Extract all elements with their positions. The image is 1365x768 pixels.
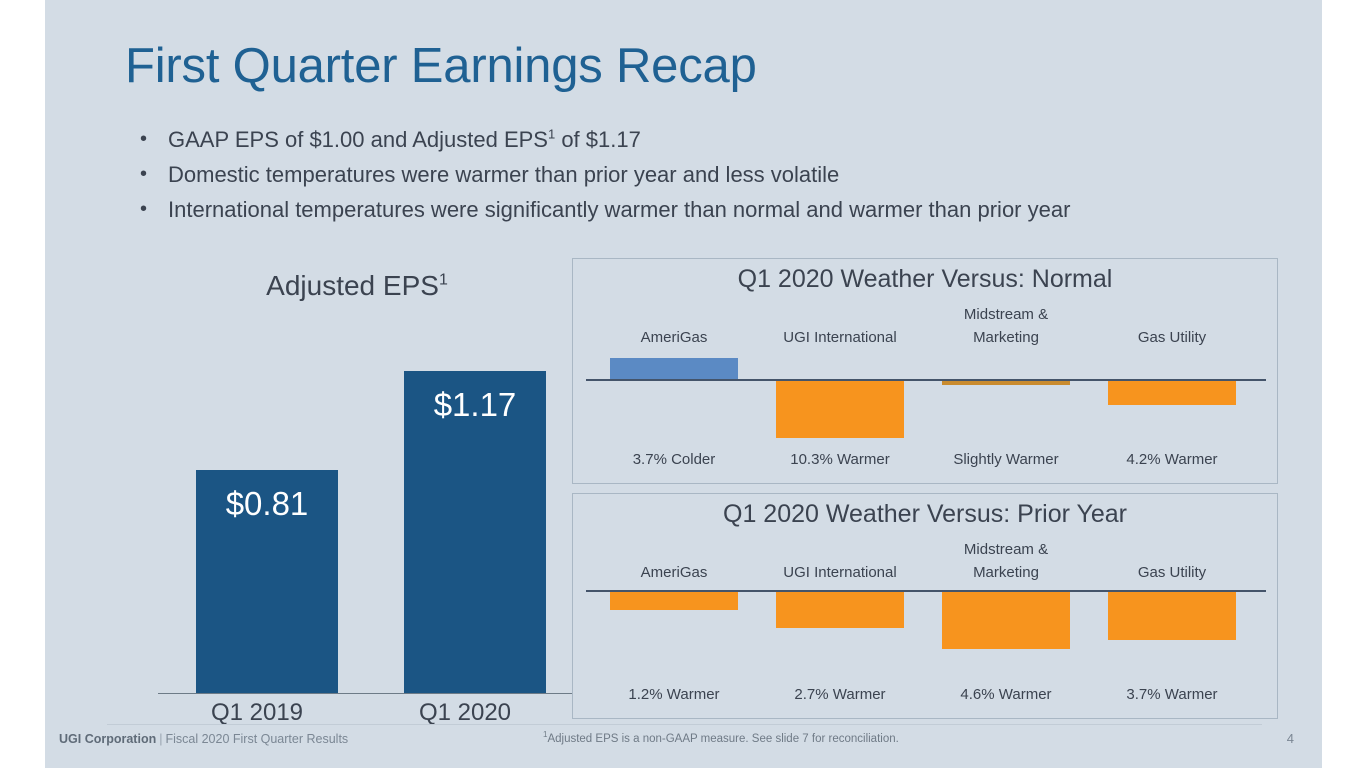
footer-branding: UGI Corporation|Fiscal 2020 First Quarte… [59, 732, 348, 746]
value-label-row: 3.7% Colder 10.3% Warmer Slightly Warmer… [573, 451, 1277, 473]
page-title: First Quarter Earnings Recap [125, 38, 757, 94]
value-label-midstream-marketing: 4.6% Warmer [922, 686, 1090, 703]
value-label-gas-utility: 3.7% Warmer [1088, 686, 1256, 703]
chart-plot-area: $0.81 $1.17 [152, 322, 582, 694]
bar-ugi-international [776, 381, 904, 438]
chart-title: Q1 2020 Weather Versus: Prior Year [573, 500, 1277, 529]
chart-title: Adjusted EPS1 [107, 270, 607, 302]
bullet-marker-icon: • [140, 157, 168, 192]
adjusted-eps-chart: Adjusted EPS1 $0.81 $1.17 Q1 2019 Q1 202… [107, 262, 607, 732]
label-line: Gas Utility [1088, 561, 1256, 584]
value-label-ugi-international: 10.3% Warmer [756, 451, 924, 468]
value-label-amerigas: 1.2% Warmer [590, 686, 758, 703]
slide-canvas: First Quarter Earnings Recap • GAAP EPS … [45, 0, 1322, 768]
bar-midstream-marketing [942, 381, 1070, 385]
chart-title: Q1 2020 Weather Versus: Normal [573, 265, 1277, 294]
value-label-amerigas: 3.7% Colder [590, 451, 758, 468]
category-label-row: AmeriGas UGI International Midstream & M… [573, 297, 1277, 349]
value-label-row: 1.2% Warmer 2.7% Warmer 4.6% Warmer 3.7%… [573, 686, 1277, 708]
x-tick-label-ugi-international: UGI International [756, 561, 924, 584]
x-tick-label-midstream-marketing: Midstream & Marketing [922, 538, 1090, 584]
page-number: 4 [1287, 731, 1294, 746]
label-line: Midstream & [922, 538, 1090, 561]
x-tick-label-amerigas: AmeriGas [590, 561, 758, 584]
bullet-text: GAAP EPS of $1.00 and Adjusted EPS1 of $… [168, 122, 641, 157]
value-label-ugi-international: 2.7% Warmer [756, 686, 924, 703]
label-line: AmeriGas [590, 561, 758, 584]
list-item: • International temperatures were signif… [140, 192, 1300, 227]
label-line: Midstream & [922, 303, 1090, 326]
bullet-text-tail: of $1.17 [555, 127, 641, 152]
label-line: Marketing [922, 326, 1090, 349]
bar-value-label: $0.81 [196, 484, 338, 524]
label-line: Marketing [922, 561, 1090, 584]
x-tick-label-gas-utility: Gas Utility [1088, 561, 1256, 584]
bullet-text: Domestic temperatures were warmer than p… [168, 157, 839, 192]
bar-midstream-marketing [942, 592, 1070, 649]
bar-value-label: $1.17 [404, 385, 546, 425]
bullet-text-main: International temperatures were signific… [168, 197, 1070, 222]
bullet-text-main: Domestic temperatures were warmer than p… [168, 162, 839, 187]
bullet-marker-icon: • [140, 192, 168, 227]
footer-company: UGI Corporation [59, 732, 156, 746]
footnote: 1Adjusted EPS is a non-GAAP measure. See… [543, 733, 899, 745]
bar-amerigas [610, 358, 738, 379]
label-line: AmeriGas [590, 326, 758, 349]
bar-amerigas [610, 592, 738, 610]
category-label-row: AmeriGas UGI International Midstream & M… [573, 532, 1277, 584]
chart-title-footnote-ref: 1 [439, 272, 448, 289]
footnote-text: Adjusted EPS is a non-GAAP measure. See … [547, 733, 898, 745]
bar-q1-2019: $0.81 [196, 470, 338, 693]
bullet-text: International temperatures were signific… [168, 192, 1070, 227]
chart-title-text: Adjusted EPS [266, 270, 439, 301]
chart-plot-area [573, 351, 1277, 447]
label-line: UGI International [756, 326, 924, 349]
x-tick-label-q1-2020: Q1 2020 [385, 699, 545, 727]
bullet-list: • GAAP EPS of $1.00 and Adjusted EPS1 of… [140, 122, 1300, 227]
footer-subtitle: Fiscal 2020 First Quarter Results [165, 732, 348, 746]
bar-q1-2020: $1.17 [404, 371, 546, 693]
x-tick-label-midstream-marketing: Midstream & Marketing [922, 303, 1090, 349]
label-line: Gas Utility [1088, 326, 1256, 349]
bullet-marker-icon: • [140, 122, 168, 157]
x-tick-label-ugi-international: UGI International [756, 326, 924, 349]
bar-ugi-international [776, 592, 904, 628]
label-line: UGI International [756, 561, 924, 584]
bullet-text-main: GAAP EPS of $1.00 and Adjusted EPS [168, 127, 548, 152]
x-tick-label-q1-2019: Q1 2019 [177, 699, 337, 727]
x-tick-label-amerigas: AmeriGas [590, 326, 758, 349]
footer-divider [107, 724, 1262, 725]
weather-versus-normal-panel: Q1 2020 Weather Versus: Normal AmeriGas … [572, 258, 1278, 484]
x-tick-label-gas-utility: Gas Utility [1088, 326, 1256, 349]
weather-versus-prior-year-panel: Q1 2020 Weather Versus: Prior Year Ameri… [572, 493, 1278, 719]
list-item: • Domestic temperatures were warmer than… [140, 157, 1300, 192]
x-axis-line [158, 693, 582, 694]
list-item: • GAAP EPS of $1.00 and Adjusted EPS1 of… [140, 122, 1300, 157]
value-label-midstream-marketing: Slightly Warmer [922, 451, 1090, 468]
chart-plot-area [573, 586, 1277, 682]
bar-gas-utility [1108, 592, 1236, 640]
value-label-gas-utility: 4.2% Warmer [1088, 451, 1256, 468]
bar-gas-utility [1108, 381, 1236, 405]
zero-axis-line [586, 590, 1266, 592]
zero-axis-line [586, 379, 1266, 381]
